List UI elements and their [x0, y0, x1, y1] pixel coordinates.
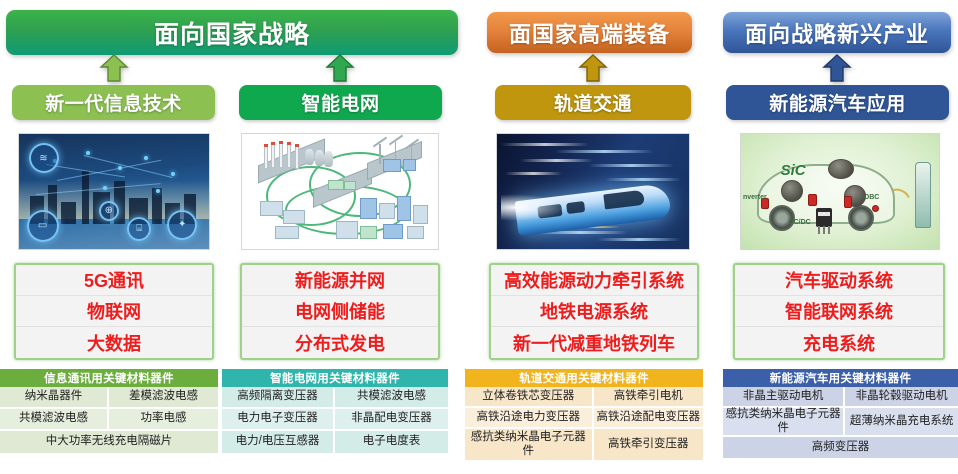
keyword-item: 汽车驱动系统 — [735, 265, 943, 296]
table-row: 纳米晶器件 差模滤波电感 — [0, 387, 218, 409]
table-cell: 电力/电压互感器 — [222, 431, 335, 453]
banner-high-end-equipment-label: 面国家高端装备 — [509, 17, 670, 49]
keyword-item: 大数据 — [16, 327, 212, 358]
category-pill-rail-transit[interactable]: 轨道交通 — [495, 85, 691, 120]
globe-icon: ⊕ — [99, 201, 119, 221]
category-pill-info-tech[interactable]: 新一代信息技术 — [12, 85, 215, 120]
smart-grid-art — [242, 134, 438, 249]
table-cell: 立体卷铁芯变压器 — [465, 387, 594, 408]
keyword-box-smart-grid: 新能源并网 电网侧储能 分布式发电 — [240, 263, 440, 360]
keyword-item: 智能联网系统 — [735, 296, 943, 327]
satellite-icon: ✦ — [167, 210, 197, 240]
keyword-box-rail-transit: 高效能源动力牵引系统 地铁电源系统 新一代减重地铁列车 — [489, 263, 699, 360]
infographic-canvas: 面向国家战略 面国家高端装备 面向战略新兴产业 新一代信息技术 智能电网 轨道交… — [0, 0, 958, 474]
category-pill-smart-grid[interactable]: 智能电网 — [239, 85, 442, 120]
keyword-item: 物联网 — [16, 296, 212, 327]
banner-strategic-emerging-label: 面向战略新兴产业 — [745, 17, 929, 49]
table-row: 中大功率无线充电隔磁片 — [0, 431, 218, 453]
table-row: 感抗类纳米晶电子元器件 高铁牵引变压器 — [465, 429, 703, 460]
materials-table-smart-grid: 智能电网用关键材料器件 高频隔离变压器 共模滤波电感 电力电子变压器 非晶配电变… — [222, 369, 448, 453]
banner-national-strategy: 面向国家战略 — [6, 10, 458, 55]
table-cell: 电力电子变压器 — [222, 409, 335, 431]
table-row: 高铁沿途电力变压器 高铁沿途配电变压器 — [465, 408, 703, 429]
keyword-item: 充电系统 — [735, 327, 943, 358]
table-cell: 高铁牵引电机 — [594, 387, 703, 408]
category-pill-info-tech-label: 新一代信息技术 — [45, 89, 182, 116]
category-pill-nev-label: 新能源汽车应用 — [769, 89, 906, 116]
table-cell: 超薄纳米晶充电系统 — [845, 408, 958, 437]
keyword-item: 5G通讯 — [16, 265, 212, 296]
table-row: 共模滤波电感 功率电感 — [0, 409, 218, 431]
keyword-box-nev: 汽车驱动系统 智能联网系统 充电系统 — [733, 263, 945, 360]
inverter-label: nverter — [743, 194, 767, 201]
table-cell: 纳米晶器件 — [0, 387, 109, 409]
factory-icon: ⌸ — [127, 217, 151, 241]
smart-city-art: ≋ ▭ ⊕ ⌸ ✦ — [19, 134, 209, 249]
materials-table-header: 新能源汽车用关键材料器件 — [723, 369, 958, 387]
keyword-box-info-tech: 5G通讯 物联网 大数据 — [14, 263, 214, 360]
table-cell: 非晶轮毂驱动电机 — [845, 387, 958, 408]
materials-table-header: 轨道交通用关键材料器件 — [465, 369, 703, 387]
materials-table-header: 智能电网用关键材料器件 — [222, 369, 448, 387]
table-cell: 非晶配电变压器 — [335, 409, 448, 431]
train-art — [497, 134, 689, 249]
banner-high-end-equipment: 面国家高端装备 — [487, 12, 692, 53]
keyword-item: 地铁电源系统 — [491, 296, 697, 327]
materials-table-info-tech: 信息通讯用关键材料器件 纳米晶器件 差模滤波电感 共模滤波电感 功率电感 中大功… — [0, 369, 218, 453]
table-cell: 共模滤波电感 — [335, 387, 448, 409]
materials-table-header: 信息通讯用关键材料器件 — [0, 369, 218, 387]
image-high-speed-train — [496, 133, 690, 250]
table-cell: 感抗类纳米晶电子元器件 — [723, 408, 845, 437]
table-row: 高频变压器 — [723, 437, 958, 458]
wifi-icon: ≋ — [29, 143, 59, 173]
monitor-icon: ▭ — [27, 210, 59, 242]
ev-art: SiC nverter OBC DC/DC — [741, 134, 939, 249]
materials-table-rail-transit: 轨道交通用关键材料器件 立体卷铁芯变压器 高铁牵引电机 高铁沿途电力变压器 高铁… — [465, 369, 703, 460]
up-arrow-icon-rail — [578, 53, 608, 83]
up-arrow-icon-smart-grid — [325, 53, 355, 83]
materials-table-nev: 新能源汽车用关键材料器件 非晶主驱动电机 非晶轮毂驱动电机 感抗类纳米晶电子元器… — [723, 369, 958, 458]
table-cell: 中大功率无线充电隔磁片 — [0, 431, 218, 453]
table-cell: 高铁牵引变压器 — [594, 429, 703, 460]
table-cell: 高铁沿途电力变压器 — [465, 408, 594, 429]
table-row: 立体卷铁芯变压器 高铁牵引电机 — [465, 387, 703, 408]
table-row: 非晶主驱动电机 非晶轮毂驱动电机 — [723, 387, 958, 408]
banner-strategic-emerging: 面向战略新兴产业 — [723, 12, 951, 53]
image-smart-grid — [241, 133, 439, 250]
table-cell: 高频隔离变压器 — [222, 387, 335, 409]
category-pill-rail-transit-label: 轨道交通 — [554, 89, 632, 116]
keyword-item: 新一代减重地铁列车 — [491, 327, 697, 358]
table-cell: 差模滤波电感 — [109, 387, 218, 409]
table-cell: 感抗类纳米晶电子元器件 — [465, 429, 594, 460]
keyword-item: 新能源并网 — [242, 265, 438, 296]
table-cell: 共模滤波电感 — [0, 409, 109, 431]
up-arrow-icon-info-tech — [99, 53, 129, 83]
image-smart-city-iot: ≋ ▭ ⊕ ⌸ ✦ — [18, 133, 210, 250]
category-pill-smart-grid-label: 智能电网 — [301, 89, 379, 116]
power-chip-icon — [816, 208, 832, 227]
category-pill-nev[interactable]: 新能源汽车应用 — [726, 85, 949, 120]
banner-national-strategy-label: 面向国家战略 — [154, 15, 310, 51]
up-arrow-icon-nev — [822, 53, 852, 83]
keyword-item: 高效能源动力牵引系统 — [491, 265, 697, 296]
table-cell: 高频变压器 — [723, 437, 958, 458]
table-cell: 电子电度表 — [335, 431, 448, 453]
table-row: 高频隔离变压器 共模滤波电感 — [222, 387, 448, 409]
table-row: 电力电子变压器 非晶配电变压器 — [222, 409, 448, 431]
image-ev-sic: SiC nverter OBC DC/DC — [740, 133, 940, 250]
obc-label: OBC — [864, 194, 880, 201]
table-row: 感抗类纳米晶电子元器件 超薄纳米晶充电系统 — [723, 408, 958, 437]
table-row: 电力/电压互感器 电子电度表 — [222, 431, 448, 453]
keyword-item: 电网侧储能 — [242, 296, 438, 327]
keyword-item: 分布式发电 — [242, 327, 438, 358]
table-cell: 非晶主驱动电机 — [723, 387, 845, 408]
charging-post-icon — [915, 162, 931, 229]
sic-label: SiC — [781, 162, 806, 179]
table-cell: 高铁沿途配电变压器 — [594, 408, 703, 429]
dcdc-label: DC/DC — [789, 219, 811, 226]
table-cell: 功率电感 — [109, 409, 218, 431]
